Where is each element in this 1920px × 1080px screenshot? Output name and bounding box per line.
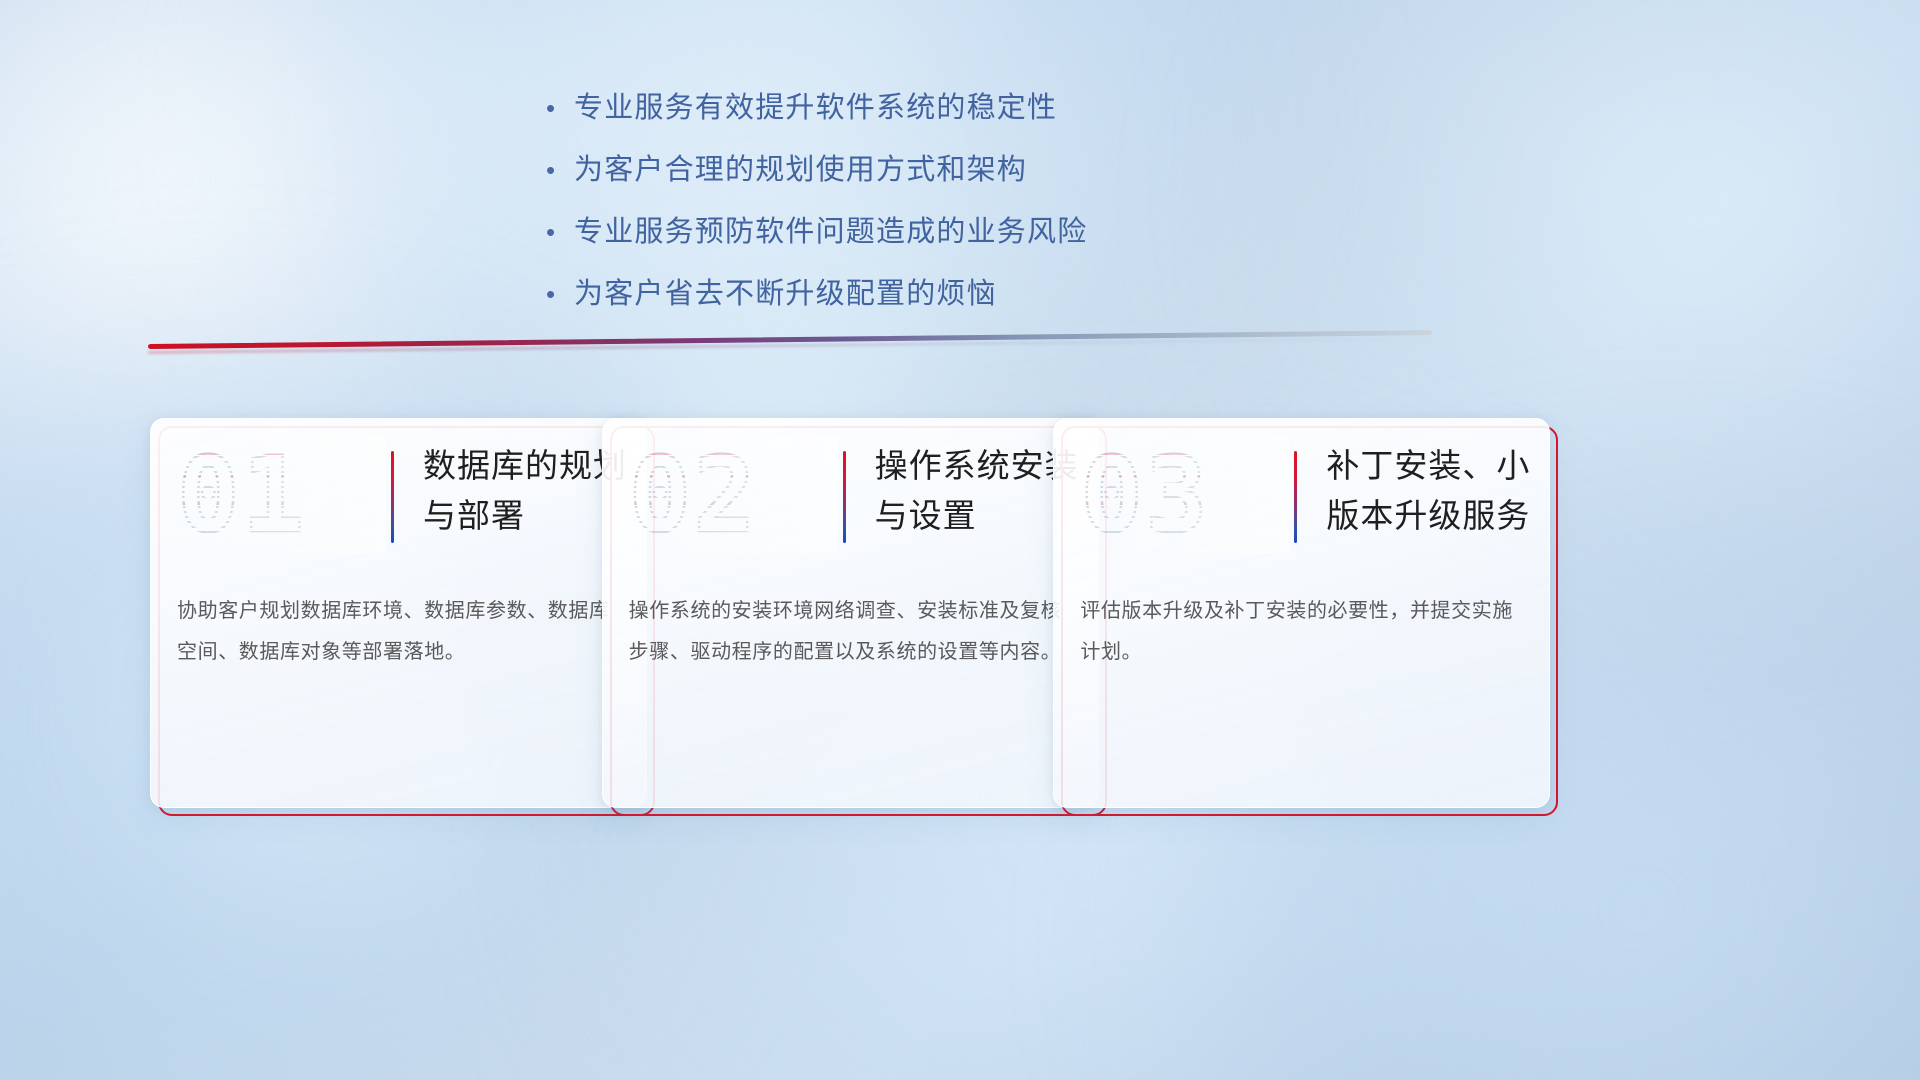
card-surface: 03 03 补丁安装、小版本升级服务 评估版本升级及补丁安装的必要性，并提交实施… (1053, 418, 1550, 808)
card-title: 操作系统安装与设置 (875, 441, 1080, 541)
card-body-text: 操作系统的安装环境网络调查、安装标准及复核步骤、驱动程序的配置以及系统的设置等内… (629, 591, 1074, 673)
card-body-text: 协助客户规划数据库环境、数据库参数、数据库空间、数据库对象等部署落地。 (177, 591, 622, 673)
list-item: • 专业服务有效提升软件系统的稳定性 (540, 88, 1300, 128)
card-header: 03 03 补丁安装、小版本升级服务 (1054, 419, 1549, 559)
card-separator-bar (1294, 451, 1297, 543)
card-number-ghost-tint: 01 (177, 441, 377, 549)
card-02[interactable]: 02 02 操作系统安装与设置 操作系统的安装环境网络调查、安装标准及复核步骤、… (602, 418, 999, 808)
card-header: 02 02 操作系统安装与设置 (603, 419, 1098, 559)
card-surface: 01 01 数据库的规划与部署 协助客户规划数据库环境、数据库参数、数据库空间、… (150, 418, 647, 808)
list-item: • 为客户合理的规划使用方式和架构 (540, 150, 1300, 190)
section-divider (148, 344, 1432, 360)
card-number-ghost-tint: 03 (1080, 441, 1280, 549)
bullet-text: 专业服务预防软件问题造成的业务风险 (574, 212, 1087, 252)
bullet-marker-icon: • (540, 88, 574, 128)
card-body-text: 评估版本升级及补丁安装的必要性，并提交实施计划。 (1080, 591, 1525, 673)
list-item: • 专业服务预防软件问题造成的业务风险 (540, 212, 1300, 252)
bullet-marker-icon: • (540, 212, 574, 252)
card-01[interactable]: 01 01 数据库的规划与部署 协助客户规划数据库环境、数据库参数、数据库空间、… (150, 418, 547, 808)
card-title: 数据库的规划与部署 (423, 441, 628, 541)
card-header: 01 01 数据库的规划与部署 (151, 419, 646, 559)
bullet-text: 为客户省去不断升级配置的烦恼 (574, 274, 997, 314)
bullet-text: 专业服务有效提升软件系统的稳定性 (574, 88, 1057, 128)
bullet-marker-icon: • (540, 274, 574, 314)
card-separator-bar (843, 451, 846, 543)
card-row: 01 01 数据库的规划与部署 协助客户规划数据库环境、数据库参数、数据库空间、… (150, 418, 1450, 808)
card-title: 补丁安装、小版本升级服务 (1326, 441, 1531, 541)
bullet-marker-icon: • (540, 150, 574, 190)
card-surface: 02 02 操作系统安装与设置 操作系统的安装环境网络调查、安装标准及复核步骤、… (602, 418, 1099, 808)
bullet-text: 为客户合理的规划使用方式和架构 (574, 150, 1027, 190)
card-03[interactable]: 03 03 补丁安装、小版本升级服务 评估版本升级及补丁安装的必要性，并提交实施… (1053, 418, 1450, 808)
list-item: • 为客户省去不断升级配置的烦恼 (540, 274, 1300, 314)
card-separator-bar (391, 451, 394, 543)
card-number-ghost-tint: 02 (629, 441, 829, 549)
bullet-list: • 专业服务有效提升软件系统的稳定性 • 为客户合理的规划使用方式和架构 • 专… (540, 88, 1300, 336)
